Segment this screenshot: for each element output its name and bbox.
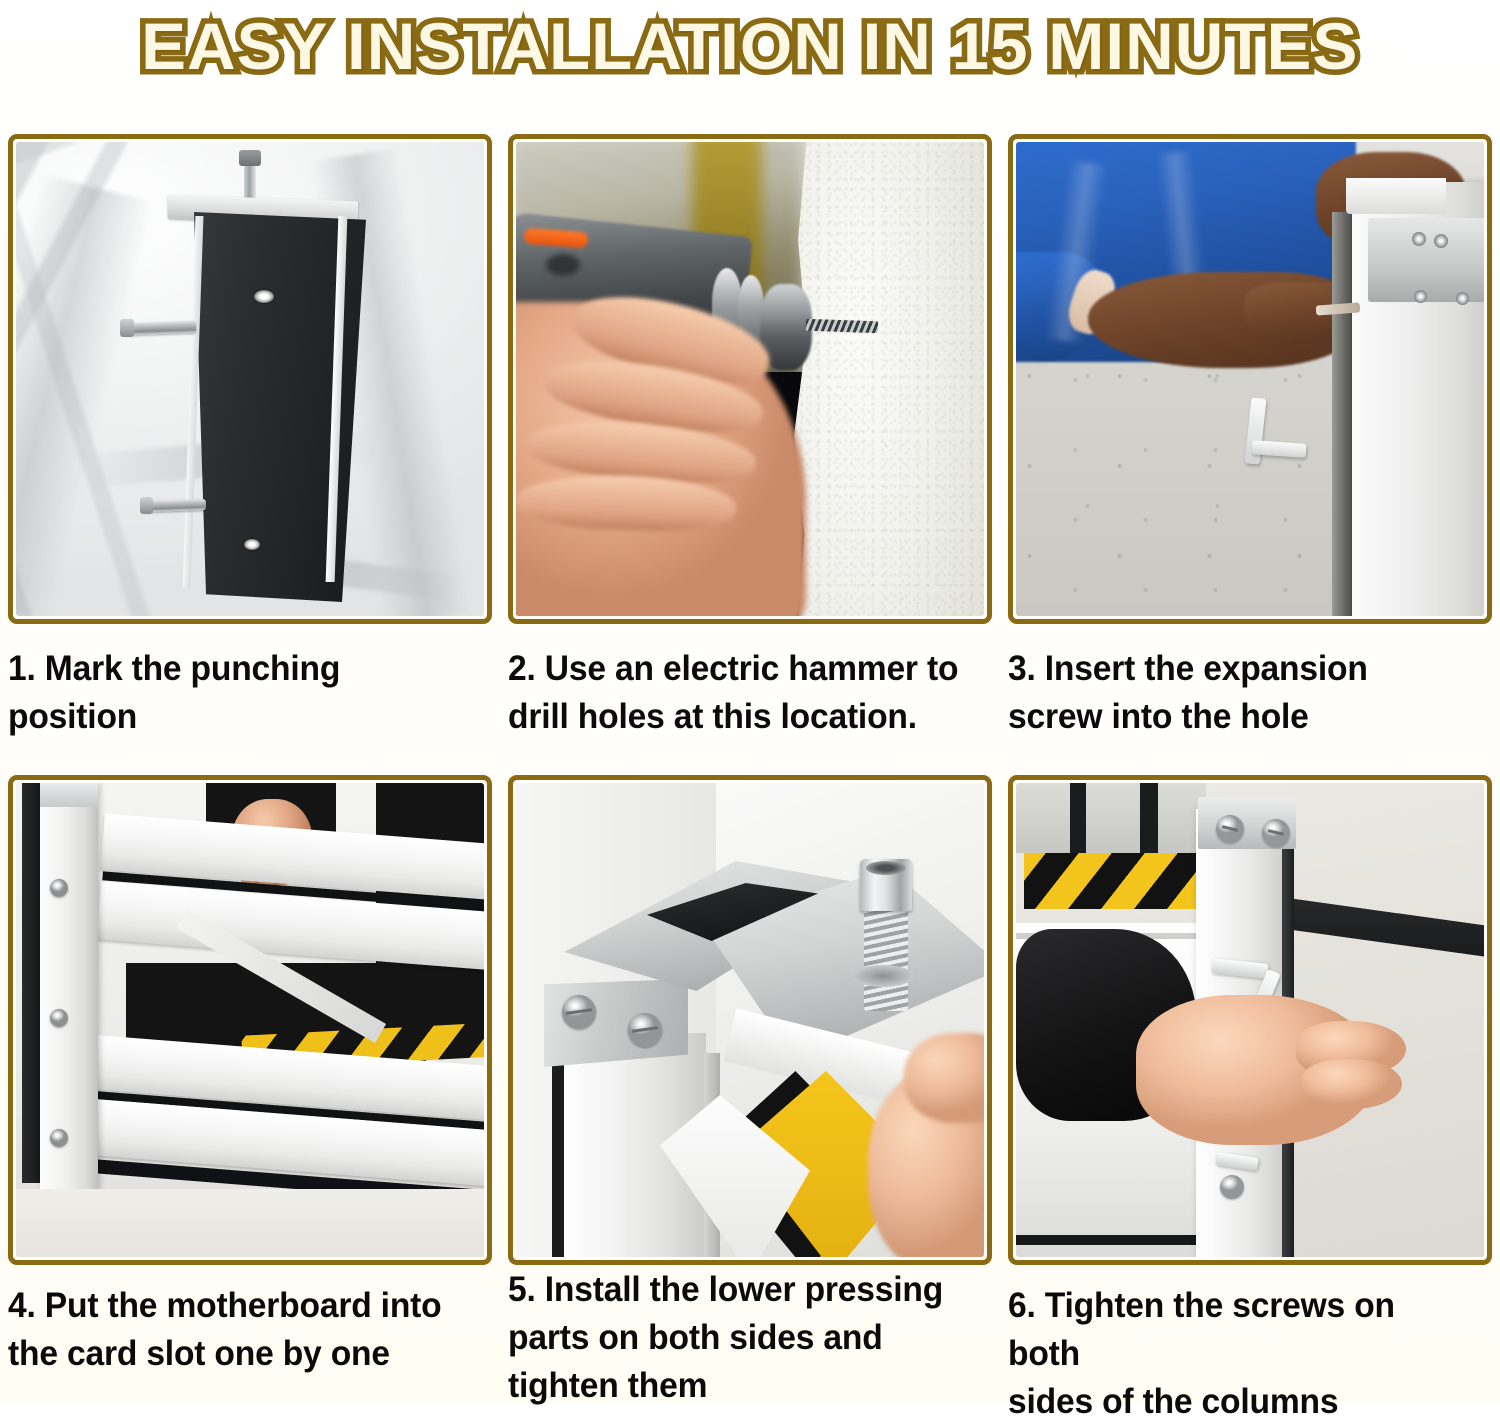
step-4-frame: [8, 775, 492, 1265]
step-6-caption: 6. Tighten the screws on both sides of t…: [1008, 1282, 1475, 1426]
steps-grid: 1. Mark the punching position: [0, 0, 1500, 1403]
step-3-image: [1008, 134, 1492, 624]
upper-dark-slot: [1140, 783, 1158, 853]
step-5-frame: [508, 775, 992, 1265]
upper-panel: [1016, 783, 1206, 853]
plate-screw: [1456, 292, 1469, 305]
step-2-frame: [508, 134, 992, 624]
plate-screw: [1434, 234, 1448, 248]
mounting-hole-upper: [254, 290, 274, 303]
step-1-photo: [16, 142, 484, 616]
hazard-stripe-tape: [1024, 849, 1200, 909]
finger: [904, 1033, 984, 1123]
column-top-cap: [1346, 178, 1446, 214]
mount-plate: [1368, 218, 1484, 302]
bolt-thread: [864, 901, 908, 1011]
step-6-frame: [1008, 775, 1492, 1265]
step-3-frame: [1008, 134, 1492, 624]
step-4-image: [8, 775, 492, 1265]
step-5-image: [508, 775, 992, 1265]
upper-dark-slot: [1070, 783, 1086, 853]
step-1-caption: 1. Mark the punching position: [8, 645, 475, 741]
drill-bit: [806, 319, 878, 334]
step-3-caption: 3. Insert the expansion screw into the h…: [1008, 645, 1475, 741]
step-2-image: [508, 134, 992, 624]
step-5-caption: 5. Install the lower pressing parts on b…: [508, 1266, 975, 1410]
post-screw: [50, 1009, 68, 1027]
pin-head-lower: [140, 497, 153, 514]
mounting-hole-lower: [244, 539, 260, 550]
stud-nut: [239, 150, 261, 166]
panel-gap: [1016, 1235, 1206, 1245]
post-cap: [40, 783, 98, 807]
step-6-image: [1008, 775, 1492, 1265]
plate-screw: [1414, 290, 1427, 303]
post-screw: [50, 879, 68, 897]
step-5-photo: [516, 783, 984, 1257]
finger: [1302, 1059, 1402, 1109]
bolt-socket: [866, 861, 906, 875]
column-shadow-edge: [1332, 212, 1354, 616]
bolt-washer: [852, 965, 914, 987]
step-2-caption: 2. Use an electric hammer to drill holes…: [508, 645, 975, 741]
plate-screw: [1412, 232, 1426, 246]
step-6-photo: [1016, 783, 1484, 1257]
expansion-pin-lower: [144, 499, 206, 512]
ground: [16, 1189, 484, 1257]
drill-detail: [546, 254, 580, 276]
pin-head-upper: [120, 319, 134, 337]
post-screw: [50, 1129, 68, 1147]
step-3-photo: [1016, 142, 1484, 616]
step-4-caption: 4. Put the motherboard into the card slo…: [8, 1282, 475, 1378]
white-post: [40, 783, 98, 1191]
wall-surface: [794, 142, 984, 616]
expansion-pin-upper: [124, 321, 196, 336]
step-4-photo: [16, 783, 484, 1257]
lower-post-screw: [1220, 1175, 1244, 1199]
step-2-photo: [516, 142, 984, 616]
step-1-image: [8, 134, 492, 624]
step-1-frame: [8, 134, 492, 624]
